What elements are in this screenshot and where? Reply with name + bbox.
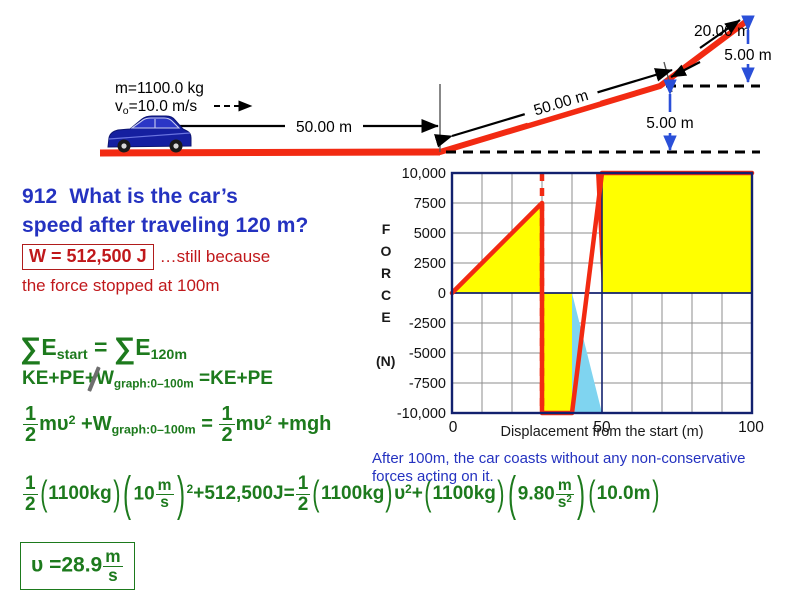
equation-energy-conservation: ∑Estart = ∑E120m xyxy=(20,332,187,366)
final-answer-box: υ =28.9ms xyxy=(20,542,135,590)
paren-open-3: ( xyxy=(312,474,319,514)
chart-note-line-1: After 100m, the car coasts without any n… xyxy=(372,450,792,468)
work-note: …still because xyxy=(160,247,271,266)
work-line: W = 512,500 J…still because xyxy=(22,244,382,272)
y-axis-letter-4: E xyxy=(378,306,394,328)
y-tick-1: 7500 xyxy=(414,196,446,212)
mass-value-3: 1100kg xyxy=(433,483,496,504)
half-numerator-1: 1 xyxy=(23,404,38,424)
mass-symbol-1: m xyxy=(39,413,57,435)
gravity-unit-den-exp: 2 xyxy=(566,494,571,505)
mass-value-2: 1100kg xyxy=(321,483,384,504)
plus-7: + xyxy=(412,483,423,504)
mass-symbol-2: m xyxy=(236,413,254,435)
gravity-unit-den: s2 xyxy=(556,494,574,511)
equals-2: = xyxy=(199,368,210,389)
ground-line xyxy=(100,152,440,153)
y-axis-letter-2: R xyxy=(378,262,394,284)
pe-term-2: PE xyxy=(248,368,273,389)
e-start-sub: start xyxy=(57,347,88,363)
velocity-label: vo=10.0 m/s xyxy=(115,98,197,117)
dim-label-ramp2: 20.00 m xyxy=(694,23,750,40)
y-axis-letter-gap xyxy=(378,328,394,350)
mass-value-1: 1100kg xyxy=(48,483,111,504)
question-text-1: What is the car’s xyxy=(69,185,238,208)
gravity-value: 9.80 xyxy=(518,483,555,504)
equals-3: = xyxy=(201,413,213,435)
y-axis-title: F O R C E (N) xyxy=(378,218,394,372)
equals-1: = xyxy=(94,334,107,360)
y-tick-3: 2500 xyxy=(414,256,446,272)
equation-ke-pe-w: KE+PE+Wgraph:0–100m =KE+PE xyxy=(22,368,273,390)
shaded-area-plateau xyxy=(602,173,752,293)
e-end-base: E xyxy=(135,334,150,360)
velocity-exponent-1: 2 xyxy=(69,413,76,427)
y-tick-5: -2500 xyxy=(409,316,446,332)
y-axis-letter-1: O xyxy=(378,240,394,262)
fraction-half-1: 1 2 xyxy=(23,404,38,446)
answer-unit-fraction: ms xyxy=(103,548,122,584)
height-label-2: 5.00 m xyxy=(724,47,771,64)
y-tick-8: -10,000 xyxy=(397,406,446,422)
question-block: 912What is the car’s speed after traveli… xyxy=(22,182,372,240)
answer-variable: υ xyxy=(31,554,43,577)
half-numerator-2: 1 xyxy=(219,404,234,424)
speed-unit-fraction: ms xyxy=(156,478,174,511)
chart-note: After 100m, the car coasts without any n… xyxy=(372,450,792,486)
fraction-half-2: 1 2 xyxy=(219,404,234,446)
y-tick-0: 10,000 xyxy=(402,166,446,182)
question-line-2: speed after traveling 120 m? xyxy=(22,211,372,240)
chart-note-line-2: forces acting on it. xyxy=(372,468,792,486)
ke-term-1: KE xyxy=(22,368,48,389)
w-graph-base-2: W xyxy=(93,413,112,435)
speed-group: 10ms xyxy=(134,478,175,511)
fraction-half-3: 1 2 xyxy=(23,474,38,514)
plus-1: + xyxy=(48,368,59,389)
paren-close-1: ) xyxy=(113,474,120,514)
mgh-term: mgh xyxy=(289,413,331,435)
fraction-half-4: 12 xyxy=(296,474,311,514)
y-tick-7: -7500 xyxy=(409,376,446,392)
sigma-2: ∑ xyxy=(114,332,135,365)
force-displacement-chart: 10,000 7500 5000 2500 0 -2500 -5000 -750… xyxy=(370,165,800,445)
answer-equals: = xyxy=(49,554,61,577)
half-numerator-3: 1 xyxy=(23,474,38,493)
ke-term-2: KE xyxy=(210,368,236,389)
y-tick-6: -5000 xyxy=(409,346,446,362)
velocity-symbol-2: υ xyxy=(253,413,265,435)
velocity-unknown: υ xyxy=(394,483,405,504)
half-denominator-3: 2 xyxy=(23,494,38,514)
height-value: 10.0m xyxy=(597,483,651,504)
blue-hatchback-car-icon xyxy=(108,116,191,153)
e-start-base: E xyxy=(41,334,56,360)
half-denominator-1: 2 xyxy=(23,424,38,445)
velocity-symbol-1: υ xyxy=(57,413,69,435)
height-label-1: 5.00 m xyxy=(646,115,693,132)
x-axis-title: Displacement from the start (m) xyxy=(452,424,752,440)
speed-unit-num: m xyxy=(156,478,174,494)
answer-unit-den: s xyxy=(103,566,122,585)
speed-value: 10 xyxy=(134,483,155,504)
half-numerator-4: 1 xyxy=(296,474,311,493)
question-line-1: 912What is the car’s xyxy=(22,182,372,211)
y-tick-2: 5000 xyxy=(414,226,446,242)
pe-term-struck: PE xyxy=(60,368,85,389)
question-number: 912 xyxy=(22,185,57,208)
plus-3: + xyxy=(237,368,248,389)
y-axis-unit: (N) xyxy=(376,350,394,372)
work-value-term: 512,500J xyxy=(204,483,283,504)
answer-unit-num: m xyxy=(103,548,122,566)
paren-open-2: ( xyxy=(123,466,131,522)
w-graph-sub-1: graph:0–100m xyxy=(114,377,194,390)
paren-open-1: ( xyxy=(40,474,47,514)
equals-4: = xyxy=(284,483,295,504)
paren-close-2: ) xyxy=(177,466,185,522)
y-tick-4: 0 xyxy=(438,286,446,302)
mass-label: m=1100.0 kg xyxy=(115,80,204,97)
y-tick-labels: 10,000 7500 5000 2500 0 -2500 -5000 -750… xyxy=(397,166,446,422)
y-axis-letter-0: F xyxy=(378,218,394,240)
e-end-sub: 120m xyxy=(151,347,187,363)
dim-label-flat: 50.00 m xyxy=(296,119,352,136)
w-graph-sub-2: graph:0–100m xyxy=(112,423,196,437)
sigma-1: ∑ xyxy=(20,332,41,365)
half-denominator-4: 2 xyxy=(296,494,311,514)
y-axis-letter-3: C xyxy=(378,284,394,306)
work-reason: the force stopped at 100m xyxy=(22,276,220,296)
shaded-area-negative-rect xyxy=(542,293,572,413)
plus-6: + xyxy=(193,483,204,504)
answer-value: 28.9 xyxy=(61,554,102,577)
speed-unit-den: s xyxy=(156,494,174,511)
ramp-diagram: 50.00 m 50.00 m 20.00 m 5.00 m 5.00 m m=… xyxy=(0,0,800,170)
equation-expanded: 1 2 mυ2 +Wgraph:0–100m = 1 2 mυ2 +mgh xyxy=(22,404,331,446)
plus-4: + xyxy=(81,413,93,435)
work-value-box: W = 512,500 J xyxy=(22,244,154,270)
half-denominator-2: 2 xyxy=(219,424,234,445)
plus-5: + xyxy=(277,413,289,435)
velocity-exponent-2: 2 xyxy=(265,413,272,427)
